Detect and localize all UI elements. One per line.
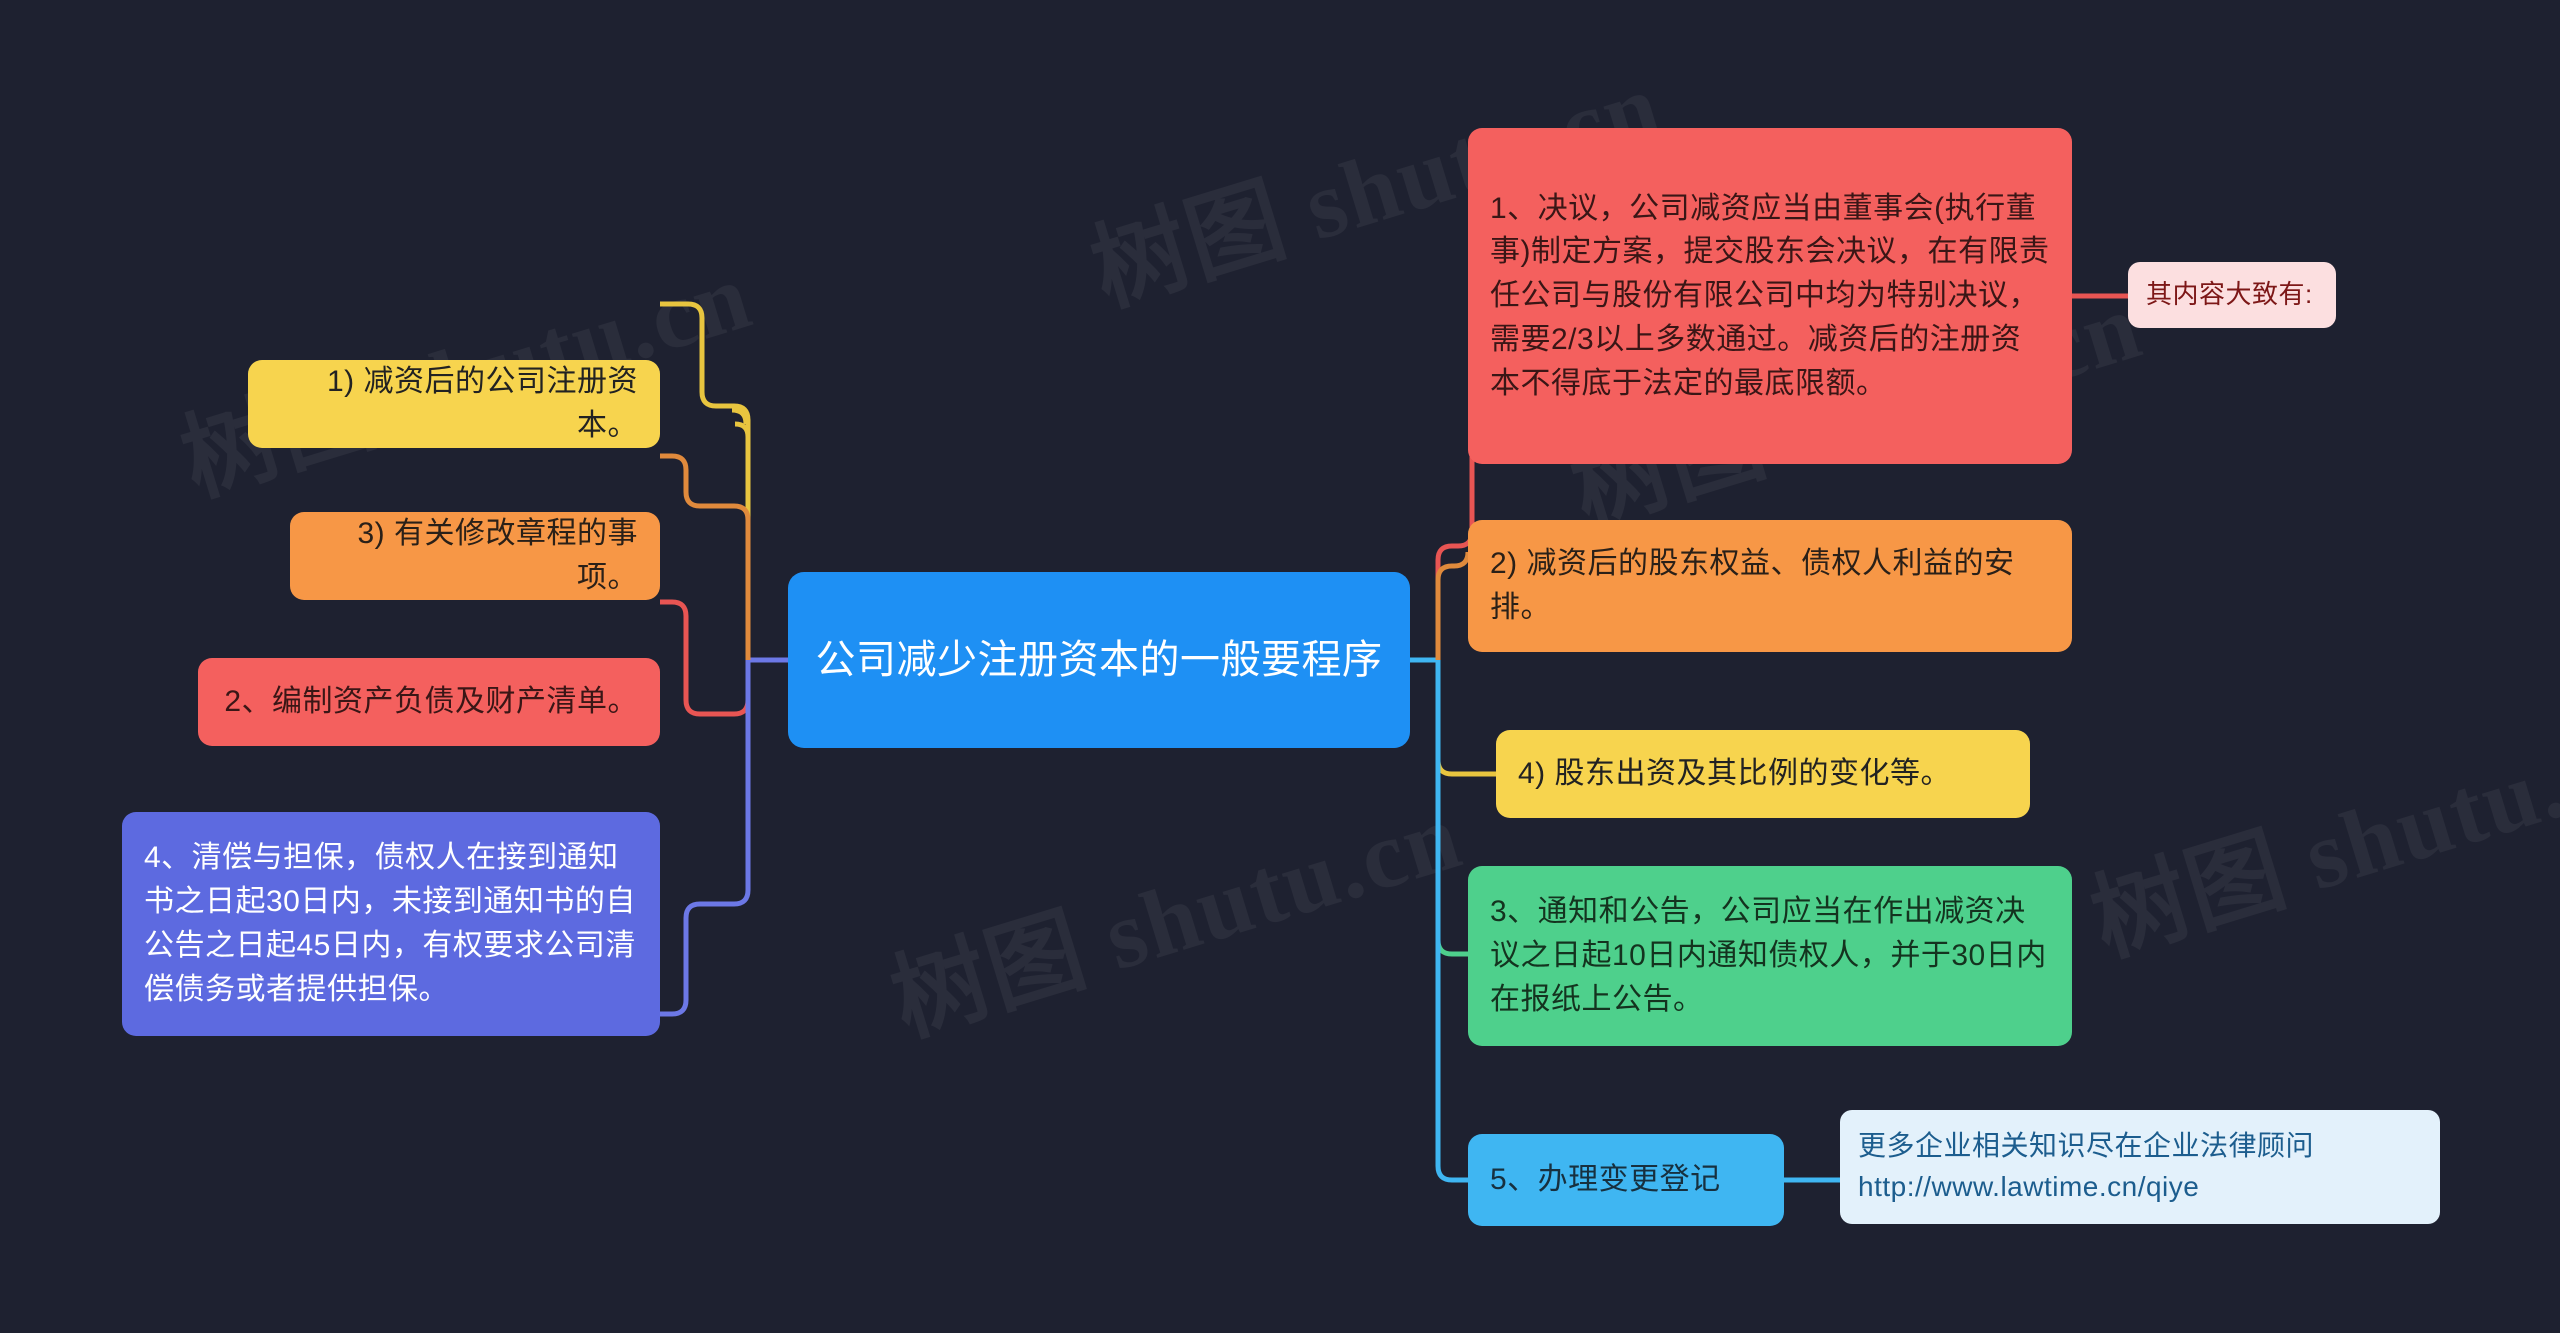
right-node-5-child-label: 更多企业相关知识尽在企业法律顾问http://www.lawtime.cn/qi… (1858, 1126, 2422, 1208)
left-node-4-label: 4、清偿与担保，债权人在接到通知书之日起30日内，未接到通知书的自公告之日起45… (144, 836, 638, 1011)
right-node-1-child[interactable]: 其内容大致有: (2128, 262, 2336, 328)
mindmap-canvas: 树图 shutu.cn 树图 shutu.cn 树图 shutu.cn 树图 s… (0, 0, 2560, 1333)
right-node-3-label: 4) 股东出资及其比例的变化等。 (1518, 752, 2008, 796)
right-node-5-child[interactable]: 更多企业相关知识尽在企业法律顾问http://www.lawtime.cn/qi… (1840, 1110, 2440, 1224)
right-node-1-label: 1、决议，公司减资应当由董事会(执行董事)制定方案，提交股东会决议，在有限责任公… (1490, 187, 2050, 406)
right-node-1[interactable]: 1、决议，公司减资应当由董事会(执行董事)制定方案，提交股东会决议，在有限责任公… (1468, 128, 2072, 464)
right-node-5-label: 5、办理变更登记 (1490, 1158, 1762, 1202)
left-node-2-label: 3) 有关修改章程的事项。 (312, 512, 638, 600)
right-node-1-child-label: 其内容大致有: (2146, 276, 2318, 314)
watermark-text: 树图 shutu.cn (873, 757, 1475, 1062)
left-node-1[interactable]: 1) 减资后的公司注册资本。 (248, 360, 660, 448)
root-node[interactable]: 公司减少注册资本的一般要程序 (788, 572, 1410, 748)
right-node-2-label: 2) 减资后的股东权益、债权人利益的安排。 (1490, 542, 2050, 630)
left-node-2[interactable]: 3) 有关修改章程的事项。 (290, 512, 660, 600)
watermark-text: 树图 shutu.cn (2073, 677, 2560, 982)
right-node-3[interactable]: 4) 股东出资及其比例的变化等。 (1496, 730, 2030, 818)
right-node-4-label: 3、通知和公告，公司应当在作出减资决议之日起10日内通知债权人，并于30日内在报… (1490, 890, 2050, 1021)
left-node-4[interactable]: 4、清偿与担保，债权人在接到通知书之日起30日内，未接到通知书的自公告之日起45… (122, 812, 660, 1036)
right-node-5[interactable]: 5、办理变更登记 (1468, 1134, 1784, 1226)
root-node-label: 公司减少注册资本的一般要程序 (814, 631, 1384, 689)
left-node-3-label: 2、编制资产负债及财产清单。 (220, 680, 638, 724)
left-node-3[interactable]: 2、编制资产负债及财产清单。 (198, 658, 660, 746)
right-node-2[interactable]: 2) 减资后的股东权益、债权人利益的安排。 (1468, 520, 2072, 652)
left-node-1-label: 1) 减资后的公司注册资本。 (270, 360, 638, 448)
right-node-4[interactable]: 3、通知和公告，公司应当在作出减资决议之日起10日内通知债权人，并于30日内在报… (1468, 866, 2072, 1046)
